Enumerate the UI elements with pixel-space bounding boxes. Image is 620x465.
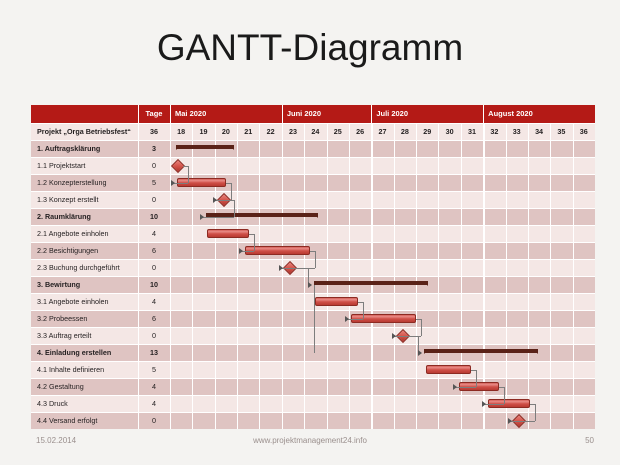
week-number-35: 35 — [550, 123, 572, 140]
week-number-27: 27 — [371, 123, 393, 140]
week-number-30: 30 — [438, 123, 460, 140]
column-divider — [394, 123, 395, 429]
row-label: 2. Raumklärung — [31, 208, 138, 225]
dependency-link — [535, 404, 536, 421]
footer-page-number: 50 — [585, 436, 594, 445]
dependency-arrow — [453, 384, 457, 390]
week-number-31: 31 — [461, 123, 483, 140]
row-days-value: 4 — [138, 293, 170, 310]
row-days-value: 13 — [138, 344, 170, 361]
column-divider — [528, 123, 529, 429]
slide-canvas: GANTT-Diagramm TageMai 2020Juni 2020Juli… — [0, 0, 620, 465]
dependency-link — [508, 421, 535, 422]
dependency-link — [200, 217, 234, 218]
week-number-25: 25 — [327, 123, 349, 140]
week-number-19: 19 — [192, 123, 214, 140]
row-label: 2.3 Buchung durchgeführt — [31, 259, 138, 276]
week-number-23: 23 — [282, 123, 304, 140]
dependency-arrow — [508, 418, 512, 424]
row-label: Projekt „Orga Betriebsfest“ — [31, 123, 138, 140]
month-separator — [371, 105, 372, 123]
row-label: 4.4 Versand erfolgt — [31, 412, 138, 429]
month-column-divider — [282, 123, 284, 429]
task-bar[interactable] — [315, 297, 358, 306]
dependency-link — [295, 268, 309, 269]
dependency-link — [254, 234, 255, 251]
summary-bar — [424, 349, 538, 353]
dependency-arrow — [308, 282, 312, 288]
dependency-arrow — [239, 248, 243, 254]
week-number-34: 34 — [528, 123, 550, 140]
dependency-link — [421, 319, 422, 336]
dependency-arrow — [418, 350, 422, 356]
month-header-4: August 2020 — [483, 105, 600, 123]
week-number-26: 26 — [349, 123, 371, 140]
week-number-22: 22 — [259, 123, 281, 140]
week-number-21: 21 — [237, 123, 259, 140]
dependency-link — [476, 370, 477, 387]
row-days-value: 0 — [138, 191, 170, 208]
row-label: 4.1 Inhalte definieren — [31, 361, 138, 378]
row-days-value: 4 — [138, 378, 170, 395]
gantt-chart-table[interactable]: TageMai 2020Juni 2020Juli 2020August 202… — [31, 105, 595, 429]
row-days-value: 36 — [138, 123, 170, 140]
row-label: 1. Auftragsklärung — [31, 140, 138, 157]
column-divider — [550, 123, 551, 429]
month-header-1: Mai 2020 — [170, 105, 287, 123]
column-divider — [416, 123, 417, 429]
row-days-value: 5 — [138, 174, 170, 191]
dependency-arrow — [213, 197, 217, 203]
column-divider — [573, 123, 574, 429]
row-days-value: 10 — [138, 276, 170, 293]
row-days-value: 0 — [138, 327, 170, 344]
task-bar[interactable] — [426, 365, 471, 374]
row-days-value: 6 — [138, 310, 170, 327]
month-header-2: Juni 2020 — [282, 105, 376, 123]
row-days-value: 0 — [138, 259, 170, 276]
slide-footer: 15.02.2014 www.projektmanagement24.info … — [0, 436, 620, 456]
row-days-value: 6 — [138, 242, 170, 259]
column-divider — [506, 123, 507, 429]
column-divider — [349, 123, 350, 429]
row-label: 1.1 Projektstart — [31, 157, 138, 174]
row-label: 2.1 Angebote einholen — [31, 225, 138, 242]
row-days-value: 3 — [138, 140, 170, 157]
row-label: 4.2 Gestaltung — [31, 378, 138, 395]
row-label: 1.2 Konzepterstellung — [31, 174, 138, 191]
row-label: 1.3 Konzept erstellt — [31, 191, 138, 208]
column-divider — [327, 123, 328, 429]
dependency-link — [363, 302, 364, 319]
dependency-link — [231, 183, 232, 200]
page-title: GANTT-Diagramm — [0, 27, 620, 69]
summary-bar — [314, 281, 428, 285]
column-header-tage: Tage — [138, 105, 170, 123]
footer-url: www.projektmanagement24.info — [0, 436, 620, 445]
column-divider — [192, 123, 193, 429]
week-number-32: 32 — [483, 123, 505, 140]
row-label: 3. Bewirtung — [31, 276, 138, 293]
row-days-value: 4 — [138, 395, 170, 412]
dependency-arrow — [345, 316, 349, 322]
month-separator — [483, 105, 484, 123]
column-divider — [215, 123, 216, 429]
row-days-value: 4 — [138, 225, 170, 242]
row-label: 3.2 Probeessen — [31, 310, 138, 327]
month-column-divider — [371, 123, 373, 429]
row-days-value: 0 — [138, 157, 170, 174]
week-number-28: 28 — [394, 123, 416, 140]
month-separator — [282, 105, 283, 123]
column-divider — [237, 123, 238, 429]
header-separator — [170, 105, 171, 123]
column-divider — [438, 123, 439, 429]
row-label: 2.2 Besichtigungen — [31, 242, 138, 259]
week-number-24: 24 — [304, 123, 326, 140]
row-label: 4. Einladung erstellen — [31, 344, 138, 361]
project-spine — [314, 285, 315, 353]
dependency-link — [315, 251, 316, 268]
dependency-link — [234, 200, 235, 217]
dependency-arrow — [392, 333, 396, 339]
row-label: 3.3 Auftrag erteilt — [31, 327, 138, 344]
column-divider — [259, 123, 260, 429]
row-days-value: 5 — [138, 361, 170, 378]
week-number-18: 18 — [170, 123, 192, 140]
column-divider — [170, 123, 171, 429]
week-number-20: 20 — [215, 123, 237, 140]
dependency-arrow — [482, 401, 486, 407]
week-number-29: 29 — [416, 123, 438, 140]
dependency-link — [188, 166, 189, 183]
month-header-3: Juli 2020 — [371, 105, 488, 123]
dependency-arrow — [279, 265, 283, 271]
row-days-value: 0 — [138, 412, 170, 429]
column-divider — [304, 123, 305, 429]
dependency-link — [504, 387, 505, 404]
header-separator — [138, 105, 139, 123]
dependency-arrow — [200, 214, 204, 220]
week-number-33: 33 — [506, 123, 528, 140]
dependency-link — [408, 336, 418, 337]
row-label: 3.1 Angebote einholen — [31, 293, 138, 310]
dependency-arrow — [171, 180, 175, 186]
summary-bar — [176, 145, 234, 149]
week-number-36: 36 — [573, 123, 595, 140]
row-days-value: 10 — [138, 208, 170, 225]
row-label: 4.3 Druck — [31, 395, 138, 412]
task-bar[interactable] — [207, 229, 250, 238]
